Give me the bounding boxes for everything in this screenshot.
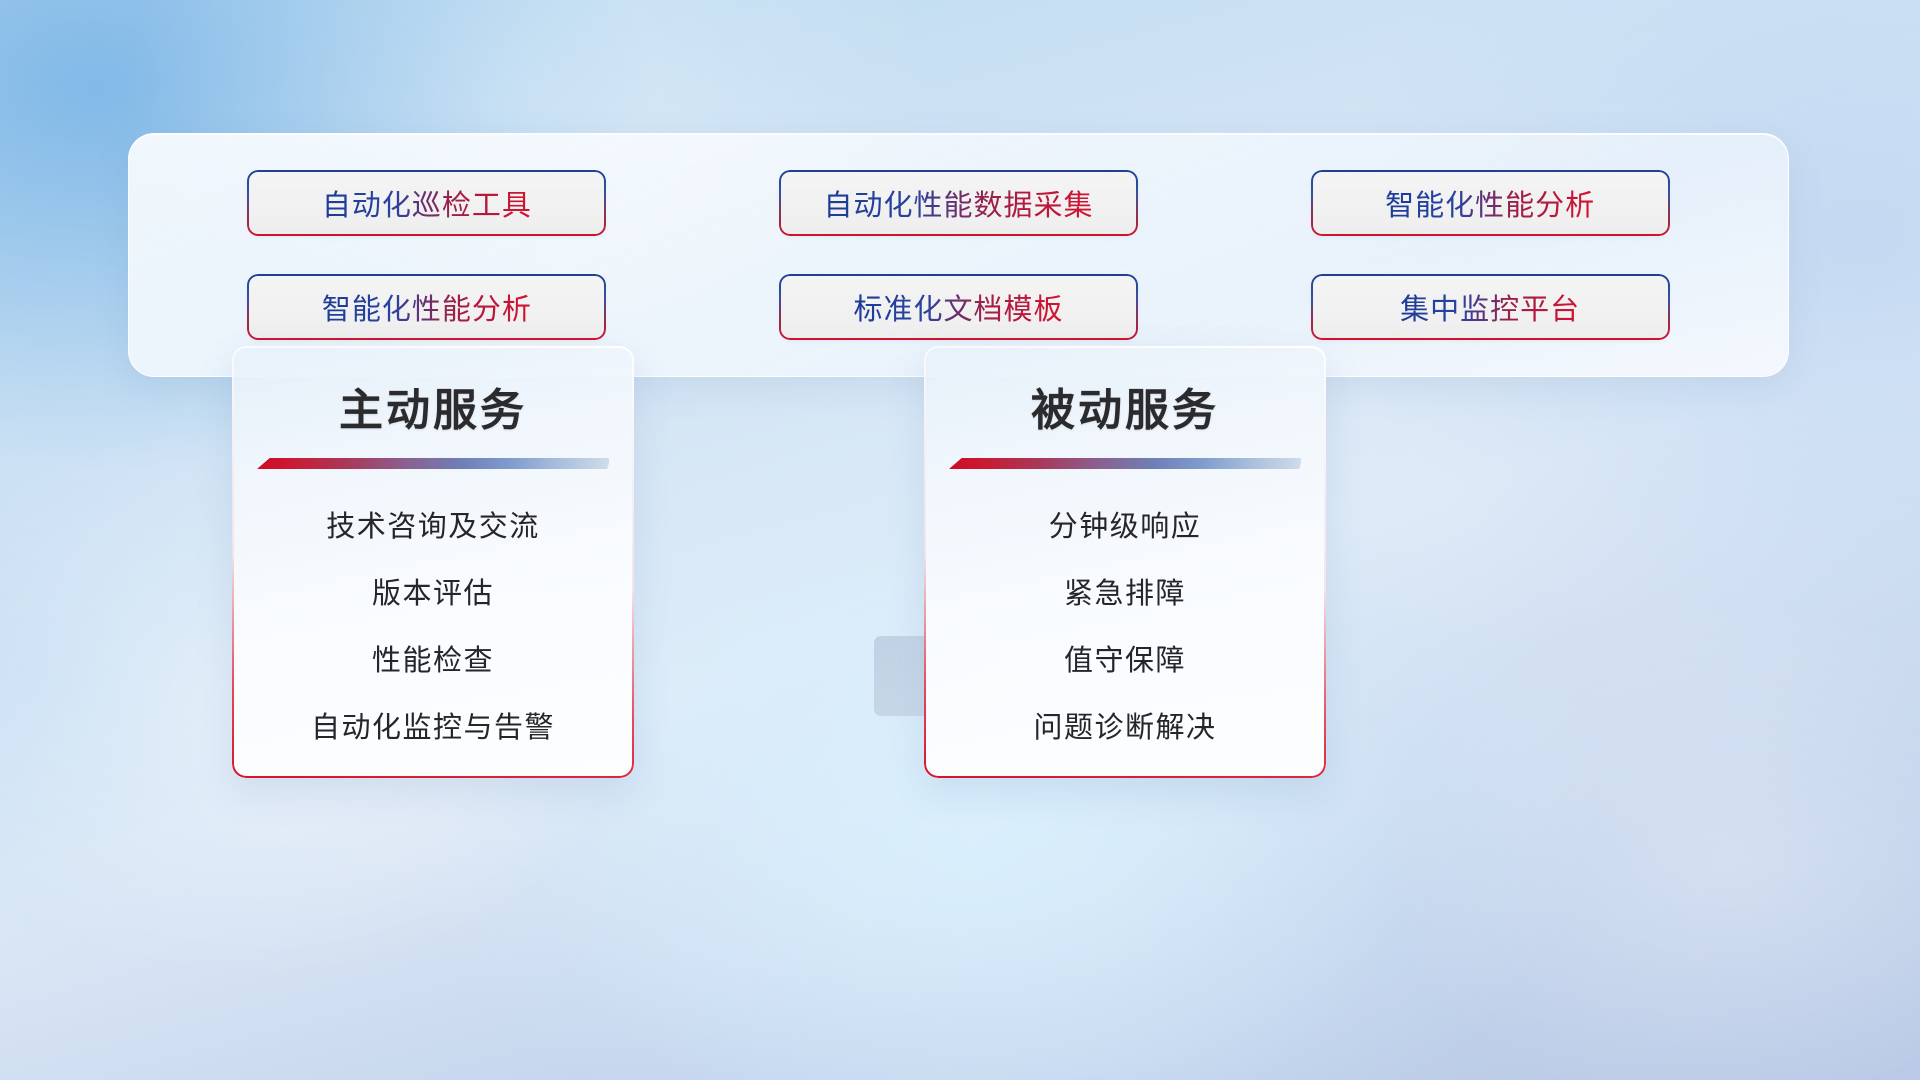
capability-pill-label: 标准化文档模板 xyxy=(853,286,1063,328)
service-list-item: 自动化监控与告警 xyxy=(311,704,555,746)
capability-pill-label: 自动化性能数据采集 xyxy=(823,182,1093,224)
service-item-list: 分钟级响应 紧急排障 值守保障 问题诊断解决 SLA式服务 xyxy=(924,503,1326,778)
capability-pill-label: 集中监控平台 xyxy=(1400,286,1580,328)
service-list-item: 版本评估 xyxy=(372,570,494,612)
service-list-item: 分钟级响应 xyxy=(1049,503,1202,545)
capabilities-panel: 自动化巡检工具 自动化性能数据采集 智能化性能分析 智能化性能分析 标准化文档模… xyxy=(128,133,1789,377)
capability-pill-standardized-document-template[interactable]: 标准化文档模板 xyxy=(781,276,1136,338)
card-divider xyxy=(257,458,609,469)
capability-pill-automated-inspection-tool[interactable]: 自动化巡检工具 xyxy=(249,172,604,234)
capability-pill-automated-performance-data-collection[interactable]: 自动化性能数据采集 xyxy=(781,172,1136,234)
service-list-item: 健康巡检 xyxy=(372,771,494,778)
service-list-item: 技术咨询及交流 xyxy=(326,503,540,545)
capability-pill-label: 智能化性能分析 xyxy=(322,286,532,328)
service-list-item: 性能检查 xyxy=(372,637,494,679)
service-list-item: SLA式服务 xyxy=(1050,771,1201,778)
service-list-item: 问题诊断解决 xyxy=(1033,704,1216,746)
service-list-item: 紧急排障 xyxy=(1064,570,1186,612)
service-card-title: 被动服务 xyxy=(924,374,1326,438)
capability-pill-label: 智能化性能分析 xyxy=(1385,182,1595,224)
capability-pill-label: 自动化巡检工具 xyxy=(322,182,532,224)
card-divider xyxy=(949,458,1301,469)
service-card-title: 主动服务 xyxy=(232,374,634,438)
service-item-list: 技术咨询及交流 版本评估 性能检查 自动化监控与告警 健康巡检 xyxy=(232,503,634,778)
service-list-item: 值守保障 xyxy=(1064,637,1186,679)
capability-pill-intelligent-performance-analysis[interactable]: 智能化性能分析 xyxy=(1313,172,1668,234)
capability-pill-intelligent-performance-analysis-2[interactable]: 智能化性能分析 xyxy=(249,276,604,338)
diagram-canvas: 自动化巡检工具 自动化性能数据采集 智能化性能分析 智能化性能分析 标准化文档模… xyxy=(0,0,1920,1080)
background-glow xyxy=(1380,600,1920,1080)
service-card-active[interactable]: 主动服务 技术咨询及交流 版本评估 性能检查 自动化监控与告警 健康巡检 xyxy=(232,346,634,778)
service-card-passive[interactable]: 被动服务 分钟级响应 紧急排障 值守保障 问题诊断解决 SLA式服务 xyxy=(924,346,1326,778)
capability-pill-centralized-monitoring-platform[interactable]: 集中监控平台 xyxy=(1313,276,1668,338)
